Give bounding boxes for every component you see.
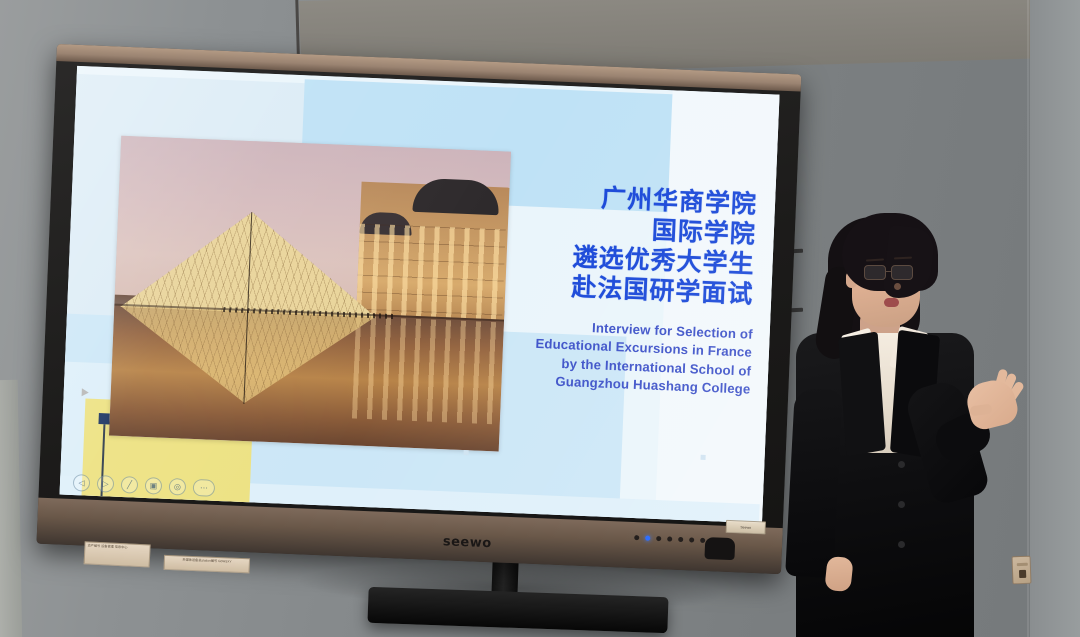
slide-decor-dot-right [700, 455, 705, 460]
room-scene: 广州华商学院 国际学院 遴选优秀大学生 赴法国研学面试 Interview fo… [0, 0, 1080, 637]
glasses-lens-left [864, 265, 886, 280]
bezel-corner-sticker: Seewo [726, 520, 766, 535]
magnifier-icon[interactable]: ◎ [169, 478, 187, 496]
blazer-button [898, 461, 905, 468]
mouth [884, 298, 899, 307]
blazer-lapel-left [838, 331, 886, 456]
seewo-brand-logo: seewo [443, 534, 492, 551]
asset-label-left: 资产编号 设备管理 信息中心 [84, 541, 151, 567]
status-led-row [634, 535, 705, 543]
glasses [864, 265, 920, 280]
led-indicator [678, 537, 683, 542]
glasses-lens-right [891, 265, 913, 280]
stylus-holder[interactable] [704, 537, 735, 560]
led-indicator [689, 537, 694, 542]
led-indicator [634, 535, 639, 540]
hair-fringe [882, 225, 935, 301]
pen-icon[interactable]: ╱ [121, 476, 139, 494]
more-icon[interactable]: ⋯ [193, 479, 216, 497]
louvre-pyramid-photo [109, 136, 511, 452]
presenter [790, 205, 1040, 637]
led-indicator [667, 536, 672, 541]
slide-title-chinese: 广州华商学院 国际学院 遴选优秀大学生 赴法国研学面试 [523, 180, 758, 309]
interactive-flat-panel[interactable]: 广州华商学院 国际学院 遴选优秀大学生 赴法国研学面试 Interview fo… [36, 44, 801, 574]
blazer-button [898, 541, 905, 548]
presenter-left-arm [785, 388, 843, 578]
eraser-icon[interactable]: ▣ [145, 477, 163, 495]
display-screen[interactable]: 广州华商学院 国际学院 遴选优秀大学生 赴法国研学面试 Interview fo… [60, 66, 780, 523]
play-icon[interactable]: ▷ [97, 475, 115, 493]
slide-subtitle-english: Interview for Selection of Educational E… [464, 314, 753, 400]
led-indicator-active [645, 536, 650, 541]
led-indicator [656, 536, 661, 541]
play-triangle-icon [82, 388, 89, 396]
blazer-button [898, 501, 905, 508]
slide-decor-dot-left [463, 450, 468, 455]
caption-marker [98, 413, 109, 424]
nose [894, 283, 901, 290]
volume-icon[interactable]: ◁ [73, 474, 91, 492]
